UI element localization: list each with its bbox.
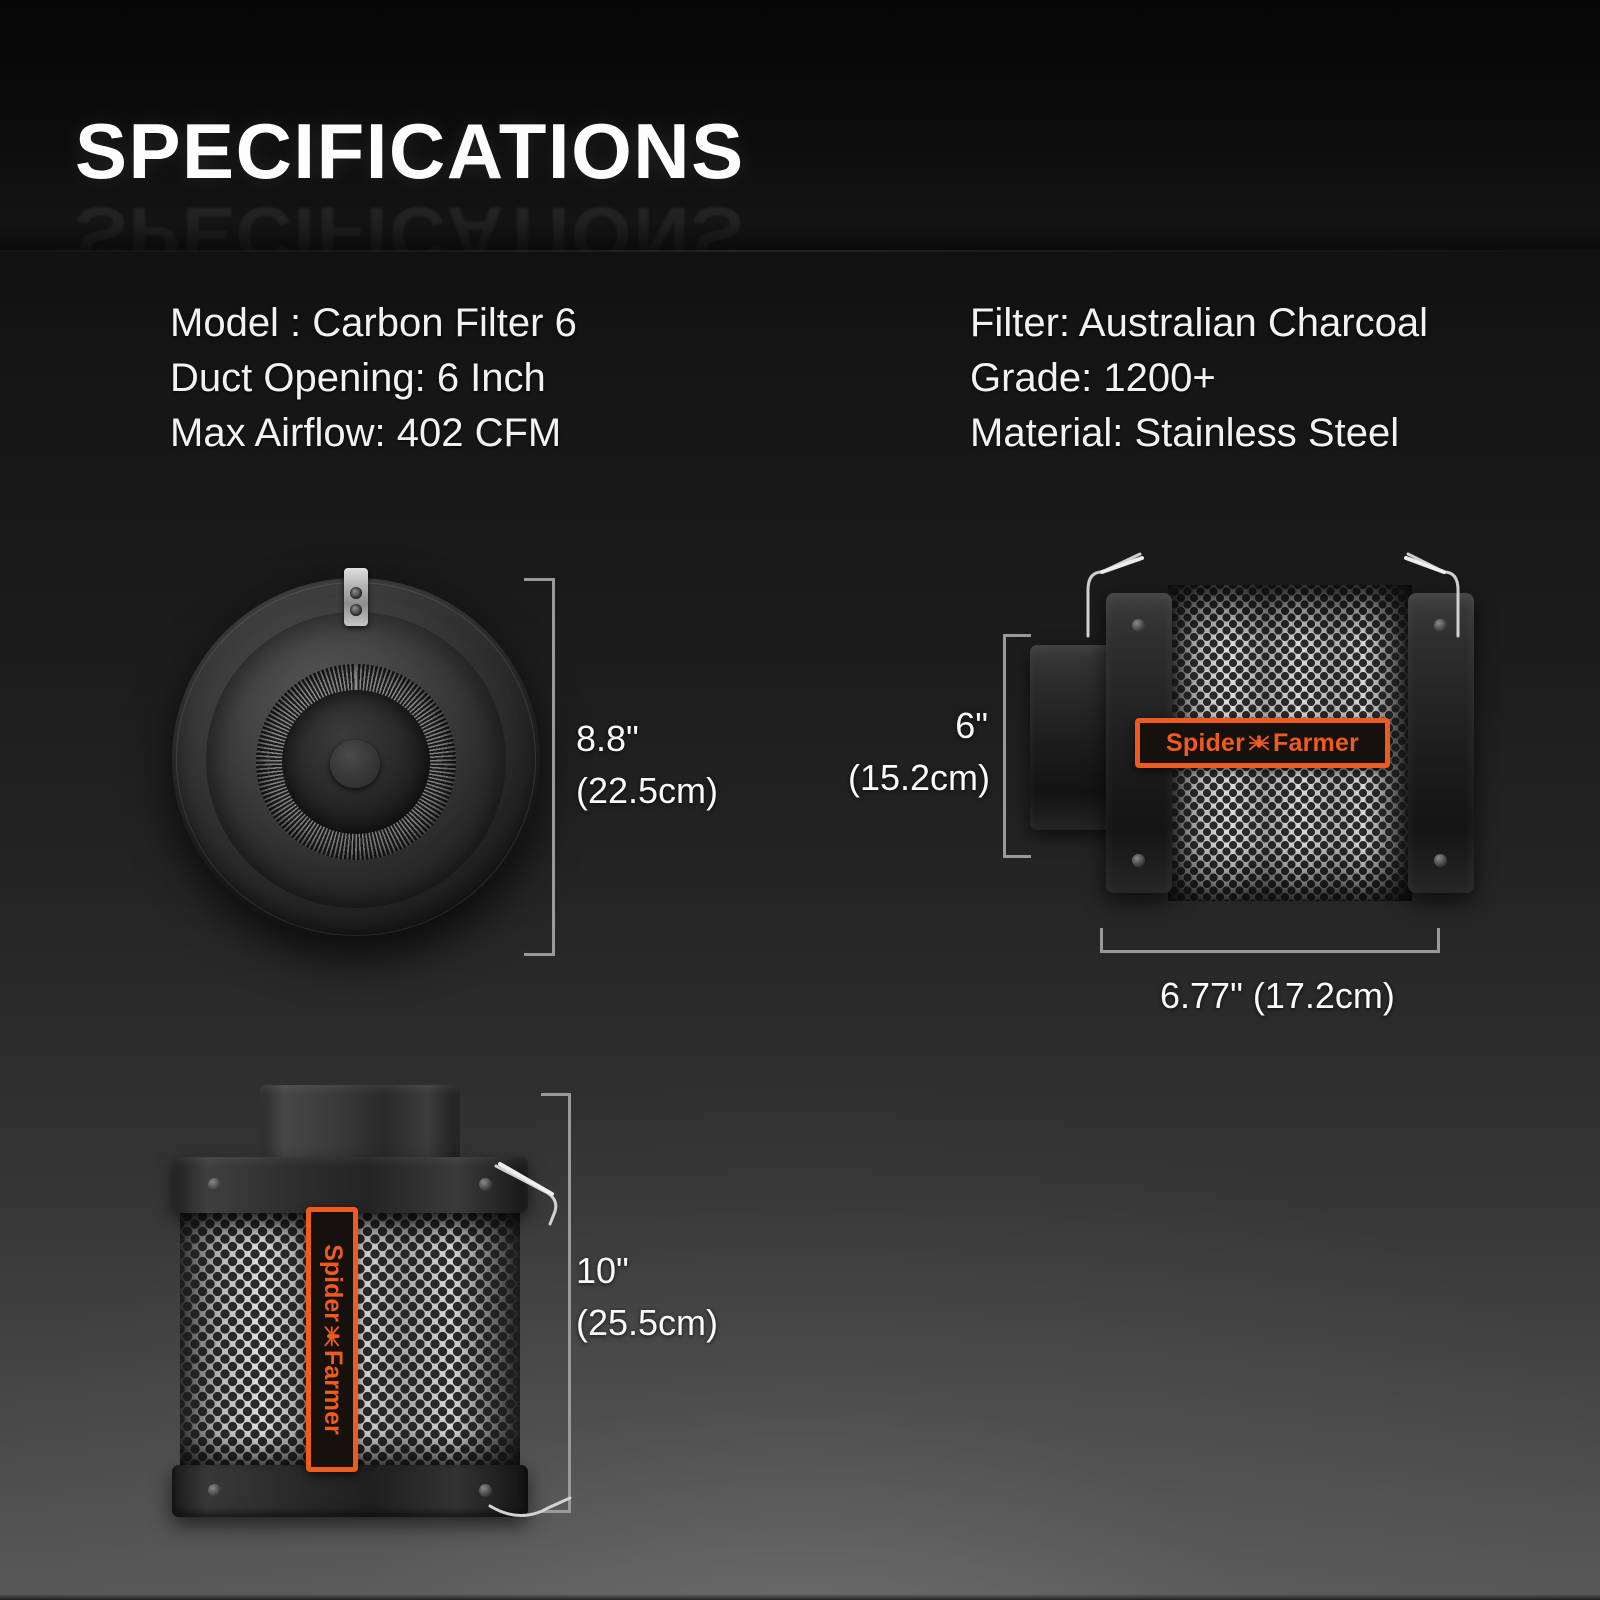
spec-column-left: Model : Carbon Filter 6 Duct Opening: 6 … xyxy=(170,296,577,462)
caliper-horizontal-6-77 xyxy=(1100,950,1440,953)
dimension-inch-10: 10" xyxy=(576,1245,718,1297)
filter-center-hub xyxy=(330,740,380,788)
hanging-hook-icon xyxy=(486,1486,576,1536)
product-spec-poster: SPECIFICATIONS SPECIFICATIONS Model : Ca… xyxy=(0,0,1600,1600)
caliper-tick-bottom xyxy=(1003,855,1031,858)
caliper-vertical-10 xyxy=(568,1093,571,1513)
hanging-hook-icon xyxy=(1078,528,1148,638)
caliper-tick-bottom xyxy=(524,953,555,956)
caliper-tick-top xyxy=(1003,634,1031,637)
cap-screw-icon xyxy=(1434,854,1447,867)
hanging-hook-icon xyxy=(494,1158,584,1228)
caliper-tick-right xyxy=(1437,928,1440,953)
cap-screw-icon xyxy=(208,1178,221,1191)
caliper-vertical-8-8 xyxy=(552,578,555,956)
caliper-tick-top xyxy=(541,1093,571,1096)
spider-icon xyxy=(1248,733,1270,753)
header-band: SPECIFICATIONS SPECIFICATIONS xyxy=(0,0,1600,252)
bracket-screw-icon xyxy=(350,604,362,616)
spec-column-right: Filter: Australian Charcoal Grade: 1200+… xyxy=(970,296,1428,462)
brand-word-spider: Spider xyxy=(320,1244,345,1322)
dimension-label-6: 6" (15.2cm) xyxy=(848,700,988,804)
cap-screw-icon xyxy=(208,1484,221,1497)
caliper-vertical-6 xyxy=(1003,634,1006,858)
duct-collar xyxy=(260,1085,460,1167)
dimension-inline-6-77: 6.77" (17.2cm) xyxy=(1160,970,1395,1022)
dimension-metric-8-8: (22.5cm) xyxy=(576,765,718,817)
page-title-reflection: SPECIFICATIONS xyxy=(75,196,745,252)
spec-material: Material: Stainless Steel xyxy=(970,406,1428,461)
dimension-metric-6: (15.2cm) xyxy=(848,752,988,804)
dimension-inch-6: 6" xyxy=(848,700,988,752)
caliper-tick-left xyxy=(1100,928,1103,953)
dimension-label-10: 10" (25.5cm) xyxy=(576,1245,718,1349)
brand-word-spider: Spider xyxy=(1166,731,1245,756)
brand-word-farmer: Farmer xyxy=(1273,731,1359,756)
product-top-view xyxy=(172,568,540,948)
page-title: SPECIFICATIONS xyxy=(75,112,745,190)
spec-max-airflow: Max Airflow: 402 CFM xyxy=(170,406,577,461)
spider-icon xyxy=(322,1325,342,1347)
hanging-bracket-icon xyxy=(344,568,368,626)
brand-badge-vertical-inner: Spider Farmer xyxy=(320,1244,345,1435)
bracket-screw-icon xyxy=(350,587,362,599)
dimension-inch-8-8: 8.8" xyxy=(576,713,718,765)
spec-grade: Grade: 1200+ xyxy=(970,351,1428,406)
brand-badge-vertical: Spider Farmer xyxy=(306,1207,358,1472)
filter-end-cap-top xyxy=(172,1157,528,1213)
dimension-label-8-8: 8.8" (22.5cm) xyxy=(576,713,718,817)
caliper-tick-top xyxy=(524,578,555,581)
product-front-view xyxy=(172,1085,572,1555)
dimension-label-6-77: 6.77" (17.2cm) xyxy=(1160,970,1395,1022)
cap-screw-icon xyxy=(479,1178,492,1191)
spec-duct-opening: Duct Opening: 6 Inch xyxy=(170,351,577,406)
cap-screw-icon xyxy=(1132,854,1145,867)
hanging-hook-icon xyxy=(1400,528,1470,638)
brand-word-farmer: Farmer xyxy=(320,1350,345,1435)
spec-model: Model : Carbon Filter 6 xyxy=(170,296,577,351)
brand-badge-horizontal: Spider Farmer xyxy=(1135,718,1390,768)
filter-end-cap-right xyxy=(1408,593,1474,893)
filter-end-cap-bottom xyxy=(172,1465,528,1517)
spec-filter: Filter: Australian Charcoal xyxy=(970,296,1428,351)
dimension-metric-10: (25.5cm) xyxy=(576,1297,718,1349)
